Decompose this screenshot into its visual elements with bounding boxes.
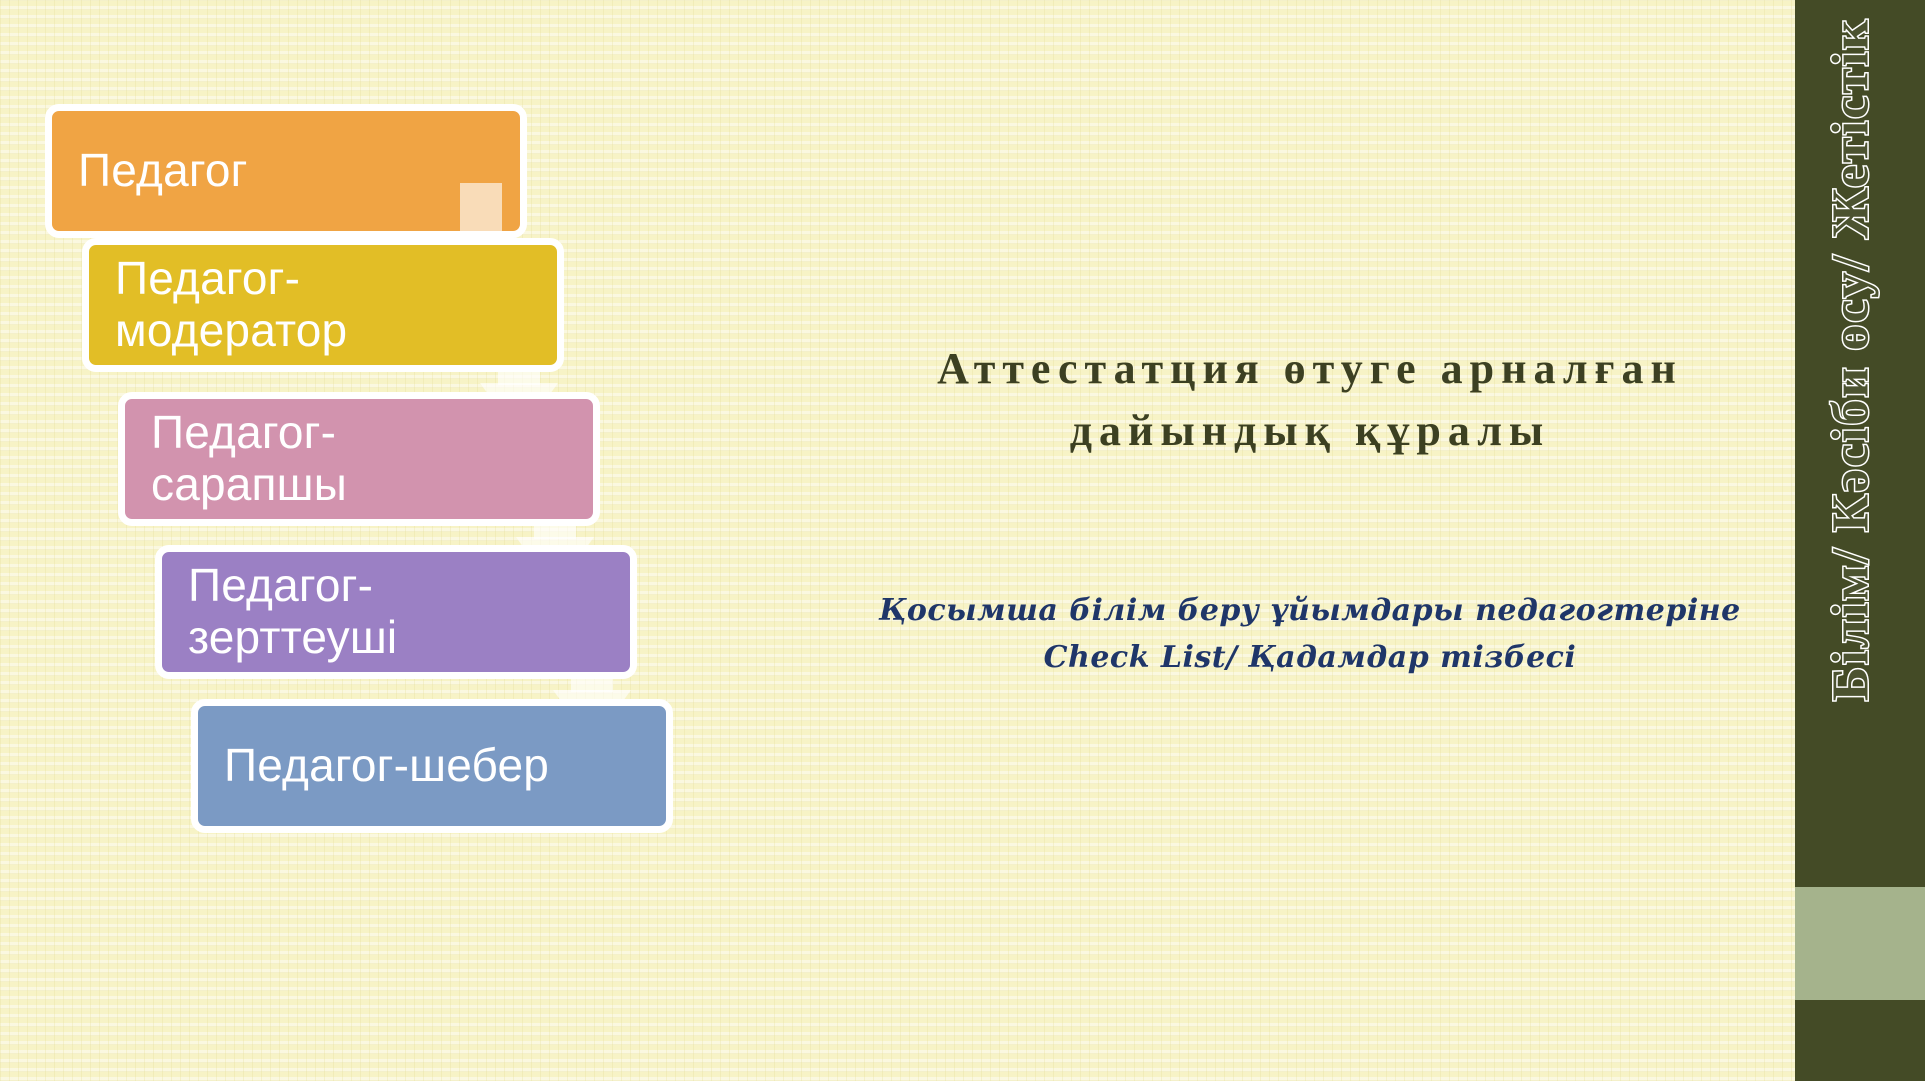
ladder-step-3[interactable]: Педагог- сарапшы bbox=[118, 392, 600, 526]
ladder-step-1[interactable]: Педагог bbox=[45, 104, 527, 238]
ladder-step-4[interactable]: Педагог- зерттеуші bbox=[155, 545, 637, 679]
sidebar-vertical-label: Білім/ Кәсіби өсу/ Жетістік bbox=[1822, 0, 1881, 860]
ladder-step-5[interactable]: Педагог-шебер bbox=[191, 699, 673, 833]
page-subtitle: Қосымша білім беру ұйымдары педагогтерін… bbox=[860, 588, 1760, 681]
slide-canvas: ПедагогПедагог- модераторПедагог- сарапш… bbox=[0, 0, 1925, 1081]
sidebar-accent-block bbox=[1795, 887, 1925, 1000]
sidebar-bar-bottom bbox=[1795, 1000, 1925, 1081]
page-title: Аттестатция өтуге арналған дайындық құра… bbox=[860, 338, 1760, 463]
right-sidebar: Білім/ Кәсіби өсу/ Жетістік bbox=[1781, 0, 1925, 1081]
ladder-step-2[interactable]: Педагог- модератор bbox=[82, 238, 564, 372]
